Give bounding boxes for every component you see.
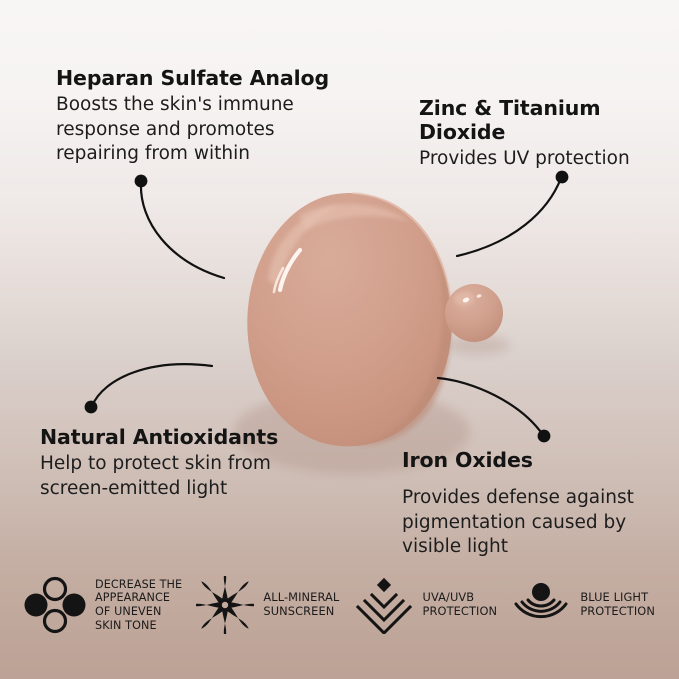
foundation-droplet-sphere [445, 284, 510, 355]
flower-petals-icon [196, 576, 254, 634]
leader-dot-zinc [556, 171, 569, 184]
benefit-label: DECREASE THE APPEARANCE OF UNEVEN SKIN T… [95, 578, 182, 632]
leader-line-zinc [457, 178, 561, 256]
callout-title: Zinc & Titanium Dioxide [419, 96, 669, 144]
leader-line-iron [438, 378, 543, 435]
radiating-waves-icon [511, 576, 571, 634]
benefit-all-mineral-sunscreen: ALL-MINERAL SUNSCREEN [196, 576, 339, 634]
callout-title: Iron Oxides [402, 448, 652, 472]
leader-line-antioxidants [92, 364, 212, 406]
callout-body: Provides defense against pigmentation ca… [402, 486, 652, 560]
leader-dot-iron [538, 430, 551, 443]
leader-dot-heparan [135, 175, 148, 188]
callout-heparan-sulfate-analog: Heparan Sulfate Analog Boosts the skin's… [56, 66, 356, 167]
product-ingredient-infographic: Heparan Sulfate Analog Boosts the skin's… [0, 0, 679, 679]
leader-line-heparan [141, 182, 224, 278]
leader-dots [85, 171, 569, 443]
benefit-decrease-uneven-skin-tone: DECREASE THE APPEARANCE OF UNEVEN SKIN T… [24, 576, 182, 634]
callout-body: Provides UV protection [419, 147, 669, 172]
benefit-blue-light-protection: BLUE LIGHT PROTECTION [511, 576, 655, 634]
callout-body: Boosts the skin's immune response and pr… [56, 93, 356, 167]
callout-natural-antioxidants: Natural Antioxidants Help to protect ski… [40, 425, 320, 501]
benefit-uva-uvb-protection: UVA/UVB PROTECTION [354, 576, 498, 634]
leader-lines [92, 178, 561, 435]
benefit-label: UVA/UVB PROTECTION [423, 591, 498, 619]
callout-iron-oxides: Iron Oxides Provides defense against pig… [402, 448, 652, 560]
benefit-label: BLUE LIGHT PROTECTION [580, 591, 655, 619]
callout-body: Help to protect skin from screen-emitted… [40, 452, 320, 501]
four-circles-icon [24, 576, 86, 634]
chevron-rays-icon [354, 576, 414, 634]
leader-dot-antioxidants [85, 401, 98, 414]
callout-title: Natural Antioxidants [40, 425, 320, 449]
benefit-label: ALL-MINERAL SUNSCREEN [263, 591, 339, 619]
benefit-strip: DECREASE THE APPEARANCE OF UNEVEN SKIN T… [0, 560, 679, 650]
foundation-swatch-teardrop [247, 193, 452, 446]
callout-title: Heparan Sulfate Analog [56, 66, 356, 90]
callout-zinc-titanium-dioxide: Zinc & Titanium Dioxide Provides UV prot… [419, 96, 669, 172]
